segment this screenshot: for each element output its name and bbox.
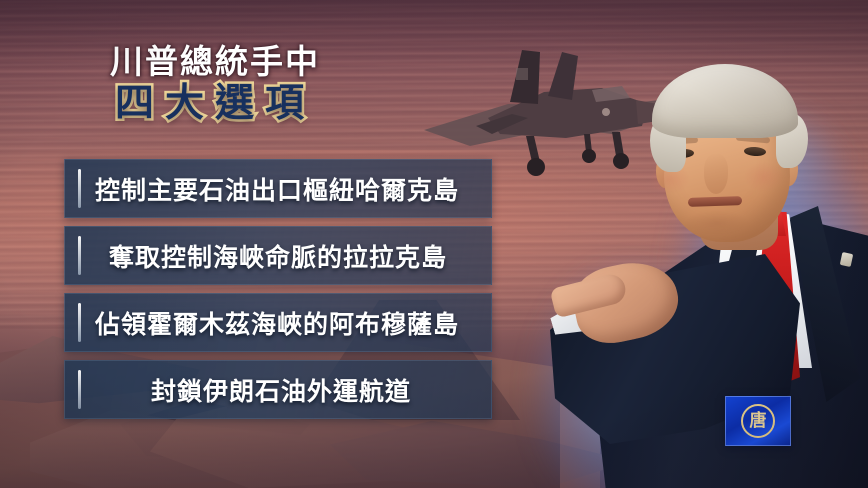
cheek-right (744, 162, 784, 192)
nose (704, 154, 728, 194)
list-item-label: 封鎖伊朗石油外運航道 (65, 372, 491, 408)
list-item: 封鎖伊朗石油外運航道 (64, 360, 492, 419)
headline-line-2: 四大選項 (0, 82, 430, 126)
ntd-logo: 唐 (725, 396, 791, 446)
list-item-label: 控制主要石油出口樞紐哈爾克島 (65, 171, 491, 207)
mouth (688, 196, 742, 207)
list-item: 奪取控制海峽命脈的拉拉克島 (64, 226, 492, 285)
list-item: 佔領霍爾木茲海峽的阿布穆薩島 (64, 293, 492, 352)
row-accent-bar (78, 236, 81, 275)
headline-block: 川普總統手中 四大選項 (0, 44, 430, 125)
row-accent-bar (78, 169, 81, 208)
row-accent-bar (78, 303, 81, 342)
ntd-logo-glyph: 唐 (741, 404, 775, 438)
list-item-label: 佔領霍爾木茲海峽的阿布穆薩島 (65, 305, 491, 341)
chin (684, 210, 750, 236)
row-accent-bar (78, 370, 81, 409)
list-item: 控制主要石油出口樞紐哈爾克島 (64, 159, 492, 218)
news-graphic-stage: 川普總統手中 四大選項 控制主要石油出口樞紐哈爾克島 奪取控制海峽命脈的拉拉克島… (0, 0, 868, 488)
headline-line-1: 川普總統手中 (0, 44, 430, 80)
trump-figure (544, 88, 868, 488)
list-item-label: 奪取控制海峽命脈的拉拉克島 (65, 238, 491, 274)
options-list: 控制主要石油出口樞紐哈爾克島 奪取控制海峽命脈的拉拉克島 佔領霍爾木茲海峽的阿布… (64, 159, 492, 427)
